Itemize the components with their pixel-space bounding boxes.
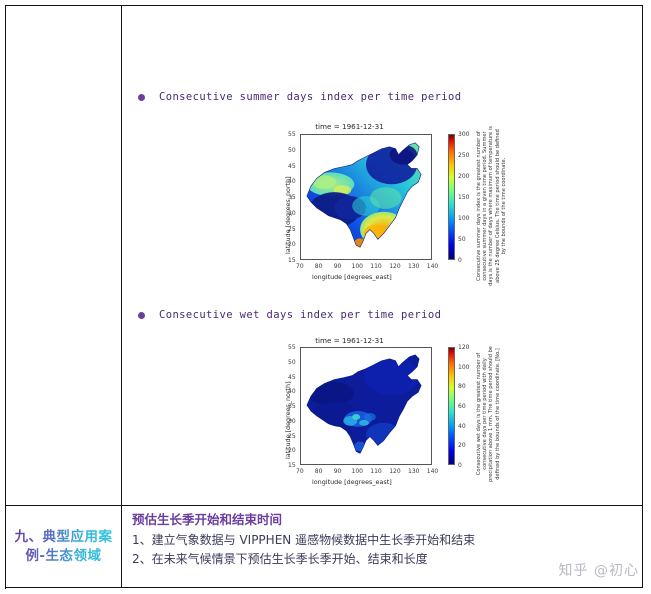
cbar-tick-label: 300 bbox=[458, 131, 469, 138]
figure-consecutive-wet-days: time = 1961-12-31 bbox=[262, 332, 507, 502]
section-list-item: 1、建立气象数据与 VIPPHEN 遥感物候数据中生长季开始和结束 bbox=[132, 531, 642, 550]
watermark: 知乎 @初心 bbox=[559, 560, 639, 580]
china-map-wet-days bbox=[301, 348, 431, 464]
xtick-label: 90 bbox=[334, 263, 342, 270]
bullet-item-wet-days: Consecutive wet days index per time peri… bbox=[138, 309, 441, 321]
table-cell-section-label: 九、典型应用案 例-生态领域 bbox=[6, 506, 122, 587]
section-title: 预估生长季开始和结束时间 bbox=[132, 511, 642, 528]
map-axes bbox=[300, 347, 432, 465]
cbar-tick-label: 250 bbox=[458, 152, 469, 159]
xtick-label: 70 bbox=[296, 263, 304, 270]
ytick-label: 55 bbox=[288, 131, 296, 138]
cbar-tick-label: 150 bbox=[458, 194, 469, 201]
cbar-tick-label: 20 bbox=[458, 442, 466, 449]
bullet-item-summer-days: Consecutive summer days index per time p… bbox=[138, 91, 461, 103]
table-cell-charts: Consecutive summer days index per time p… bbox=[122, 6, 643, 505]
xtick-label: 140 bbox=[427, 263, 438, 270]
y-axis-label: latitude [degrees_north] bbox=[284, 176, 292, 254]
ytick-label: 15 bbox=[288, 462, 296, 469]
cbar-tick-label: 100 bbox=[458, 215, 469, 222]
section-heading-line2: 例-生态领域 bbox=[15, 547, 113, 566]
ytick-label: 50 bbox=[288, 147, 296, 154]
xtick-label: 70 bbox=[296, 468, 304, 475]
xtick-label: 140 bbox=[427, 468, 438, 475]
bullet-dot-icon bbox=[138, 94, 145, 101]
xtick-label: 130 bbox=[408, 468, 419, 475]
ytick-label: 45 bbox=[288, 374, 296, 381]
ytick-label: 55 bbox=[288, 344, 296, 351]
document-table: Consecutive summer days index per time p… bbox=[5, 5, 643, 589]
xtick-label: 110 bbox=[370, 468, 381, 475]
table-row: Consecutive summer days index per time p… bbox=[6, 6, 643, 506]
table-row: 九、典型应用案 例-生态领域 预估生长季开始和结束时间 1、建立气象数据与 VI… bbox=[6, 506, 643, 588]
cbar-tick-label: 200 bbox=[458, 173, 469, 180]
colorbar bbox=[448, 134, 455, 260]
xtick-label: 100 bbox=[352, 263, 363, 270]
colorbar-label: Consecutive summer days index is the gre… bbox=[476, 126, 507, 286]
xtick-label: 110 bbox=[370, 263, 381, 270]
xtick-label: 80 bbox=[315, 468, 323, 475]
bullet-label: Consecutive summer days index per time p… bbox=[159, 91, 461, 103]
cbar-tick-label: 0 bbox=[458, 462, 462, 469]
cbar-tick-label: 50 bbox=[458, 236, 466, 243]
x-axis-label: longitude [degrees_east] bbox=[312, 478, 392, 486]
map-axes bbox=[300, 134, 432, 260]
xtick-label: 120 bbox=[389, 468, 400, 475]
ytick-label: 15 bbox=[288, 257, 296, 264]
table-cell-left-empty bbox=[6, 6, 122, 505]
cbar-tick-label: 80 bbox=[458, 383, 466, 390]
section-heading-line1: 九、典型应用案 bbox=[15, 528, 113, 547]
section-heading: 九、典型应用案 例-生态领域 bbox=[15, 528, 113, 566]
figure-title: time = 1961-12-31 bbox=[262, 122, 437, 131]
figure-consecutive-summer-days: time = 1961-12-31 bbox=[262, 118, 507, 296]
bullet-dot-icon bbox=[138, 312, 145, 319]
xtick-label: 130 bbox=[408, 263, 419, 270]
cbar-tick-label: 120 bbox=[458, 344, 469, 351]
xtick-label: 80 bbox=[315, 263, 323, 270]
colorbar-label: Consecutive wet days is the greatest num… bbox=[476, 344, 501, 484]
xtick-label: 100 bbox=[352, 468, 363, 475]
china-map-summer-days bbox=[301, 135, 431, 259]
colorbar bbox=[448, 347, 455, 465]
y-axis-label: latitude [degrees_north] bbox=[284, 381, 292, 459]
cbar-tick-label: 40 bbox=[458, 423, 466, 430]
cbar-tick-label: 0 bbox=[458, 257, 462, 264]
bullet-label: Consecutive wet days index per time peri… bbox=[159, 309, 441, 321]
ytick-label: 45 bbox=[288, 163, 296, 170]
x-axis-label: longitude [degrees_east] bbox=[312, 273, 392, 281]
xtick-label: 90 bbox=[334, 468, 342, 475]
cbar-tick-label: 60 bbox=[458, 403, 466, 410]
xtick-label: 120 bbox=[389, 263, 400, 270]
cbar-tick-label: 100 bbox=[458, 364, 469, 371]
ytick-label: 50 bbox=[288, 359, 296, 366]
